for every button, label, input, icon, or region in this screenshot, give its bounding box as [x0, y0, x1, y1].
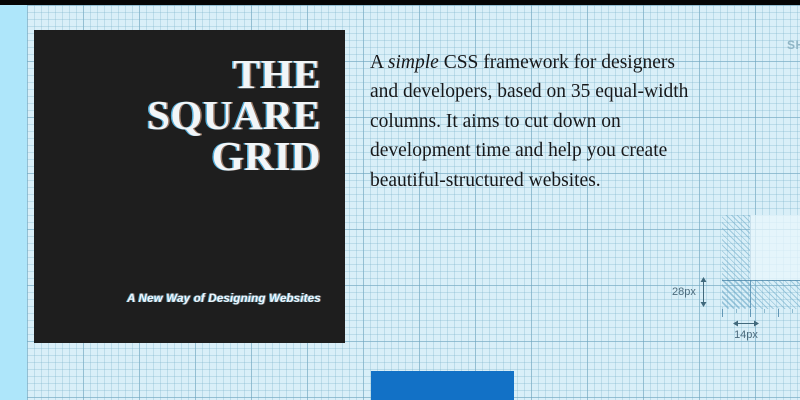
top-bar [0, 0, 800, 5]
intro-paragraph: A simple CSS framework for designers and… [370, 48, 700, 196]
intro-emphasis: simple [388, 52, 439, 73]
page-title: THE SQUARE GRID [53, 54, 321, 177]
cta-button[interactable] [371, 371, 514, 400]
dimension-horizontal-label: 14px [716, 329, 776, 341]
grid-ruler [722, 309, 800, 318]
left-gutter-strip [0, 5, 27, 400]
dimension-vertical-label: 28px [672, 286, 696, 298]
hero-tagline: A New Way of Designing Websites [34, 293, 321, 305]
arrow-leftright-icon [733, 319, 759, 328]
arrow-updown-icon [699, 277, 708, 307]
dimension-vertical: 28px [672, 277, 708, 307]
page-canvas: THE SQUARE GRID A New Way of Designing W… [0, 0, 800, 400]
grid-column-block [750, 215, 800, 280]
title-line-2: SQUARE [53, 95, 321, 136]
intro-text-before: A [370, 52, 388, 73]
title-line-1: THE [53, 54, 321, 95]
gutter-hatch-horizontal [722, 280, 800, 309]
hero-card: THE SQUARE GRID A New Way of Designing W… [34, 30, 345, 343]
edge-clipped-label[interactable]: SH [787, 38, 800, 52]
grid-measurement-overlay: 28px 14px [660, 215, 800, 365]
dimension-horizontal: 14px [716, 319, 776, 341]
title-line-3: GRID [53, 136, 321, 177]
